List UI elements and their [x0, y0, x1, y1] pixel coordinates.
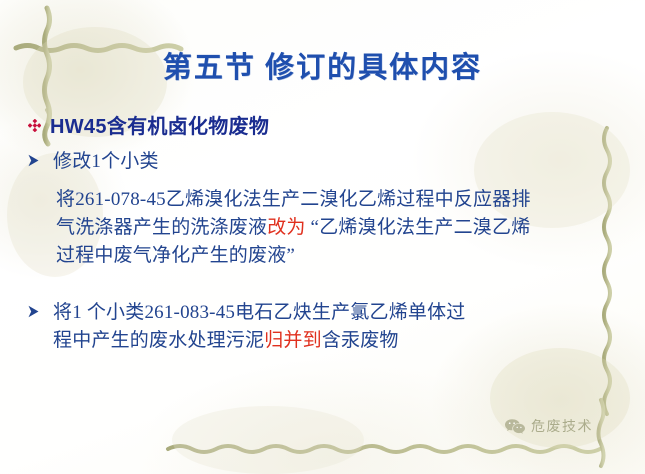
- paragraph-2: 将1 个小类261-083-45电石乙炔生产氯乙烯单体过 程中产生的废水处理污泥…: [53, 299, 466, 355]
- level2-heading-row-1: 修改1个小类: [26, 148, 159, 176]
- bamboo-stalk-right: [604, 128, 610, 414]
- level1-bullet-label: HW45含有机卤化物废物: [50, 110, 269, 139]
- emphasis-text-run: 归并到: [264, 330, 322, 351]
- level1-bullet-row: HW45含有机卤化物废物: [28, 110, 269, 139]
- slide-canvas: 第五节 修订的具体内容 HW45含有机卤化物废物 修改1个小类 将261-078…: [0, 0, 645, 474]
- paragraph-line: 过程中废气净化产生的废液”: [56, 242, 531, 270]
- text-run: 程中产生的废水处理污泥: [53, 330, 264, 351]
- brush-stroke-bottomright: [599, 400, 604, 466]
- arrow-bullet-icon: [26, 304, 41, 319]
- level2-block-1: 修改1个小类: [26, 148, 159, 176]
- emphasis-text-run: 改为: [267, 217, 305, 238]
- watermark-text: 危废技术: [531, 416, 593, 436]
- arrow-bullet-icon: [26, 153, 41, 168]
- paragraph-line: 将261-078-45乙烯溴化法生产二溴化乙烯过程中反应器排: [56, 186, 531, 214]
- diamond-bullet-icon: [28, 119, 41, 132]
- watermark: 危废技术: [504, 416, 593, 436]
- level2-block-2: 将1 个小类261-083-45电石乙炔生产氯乙烯单体过 程中产生的废水处理污泥…: [26, 299, 466, 355]
- paragraph-line: 气洗涤器产生的洗涤废液改为 “乙烯溴化法生产二溴乙烯: [56, 214, 531, 242]
- text-run: 将1 个小类261-083-45电石乙炔生产氯乙烯单体过: [53, 302, 466, 323]
- text-run: 将261-078-45乙烯溴化法生产二溴化乙烯过程中反应器排: [56, 189, 531, 210]
- paragraph-line: 程中产生的废水处理污泥归并到含汞废物: [53, 327, 466, 355]
- paragraph-1: 将261-078-45乙烯溴化法生产二溴化乙烯过程中反应器排 气洗涤器产生的洗涤…: [56, 186, 531, 270]
- slide-title: 第五节 修订的具体内容: [0, 44, 645, 86]
- text-run: 气洗涤器产生的洗涤废液: [56, 217, 267, 238]
- text-run: 过程中废气净化产生的废液”: [56, 245, 295, 266]
- wechat-icon: [504, 418, 526, 435]
- paragraph-line: 将1 个小类261-083-45电石乙炔生产氯乙烯单体过: [53, 299, 466, 327]
- bamboo-line-bottom: [168, 446, 600, 452]
- level2-heading-1: 修改1个小类: [53, 148, 159, 176]
- level2-heading-row-2: 将1 个小类261-083-45电石乙炔生产氯乙烯单体过 程中产生的废水处理污泥…: [26, 299, 466, 355]
- text-run: 含汞废物: [322, 330, 399, 351]
- text-run: “乙烯溴化法生产二溴乙烯: [306, 217, 531, 238]
